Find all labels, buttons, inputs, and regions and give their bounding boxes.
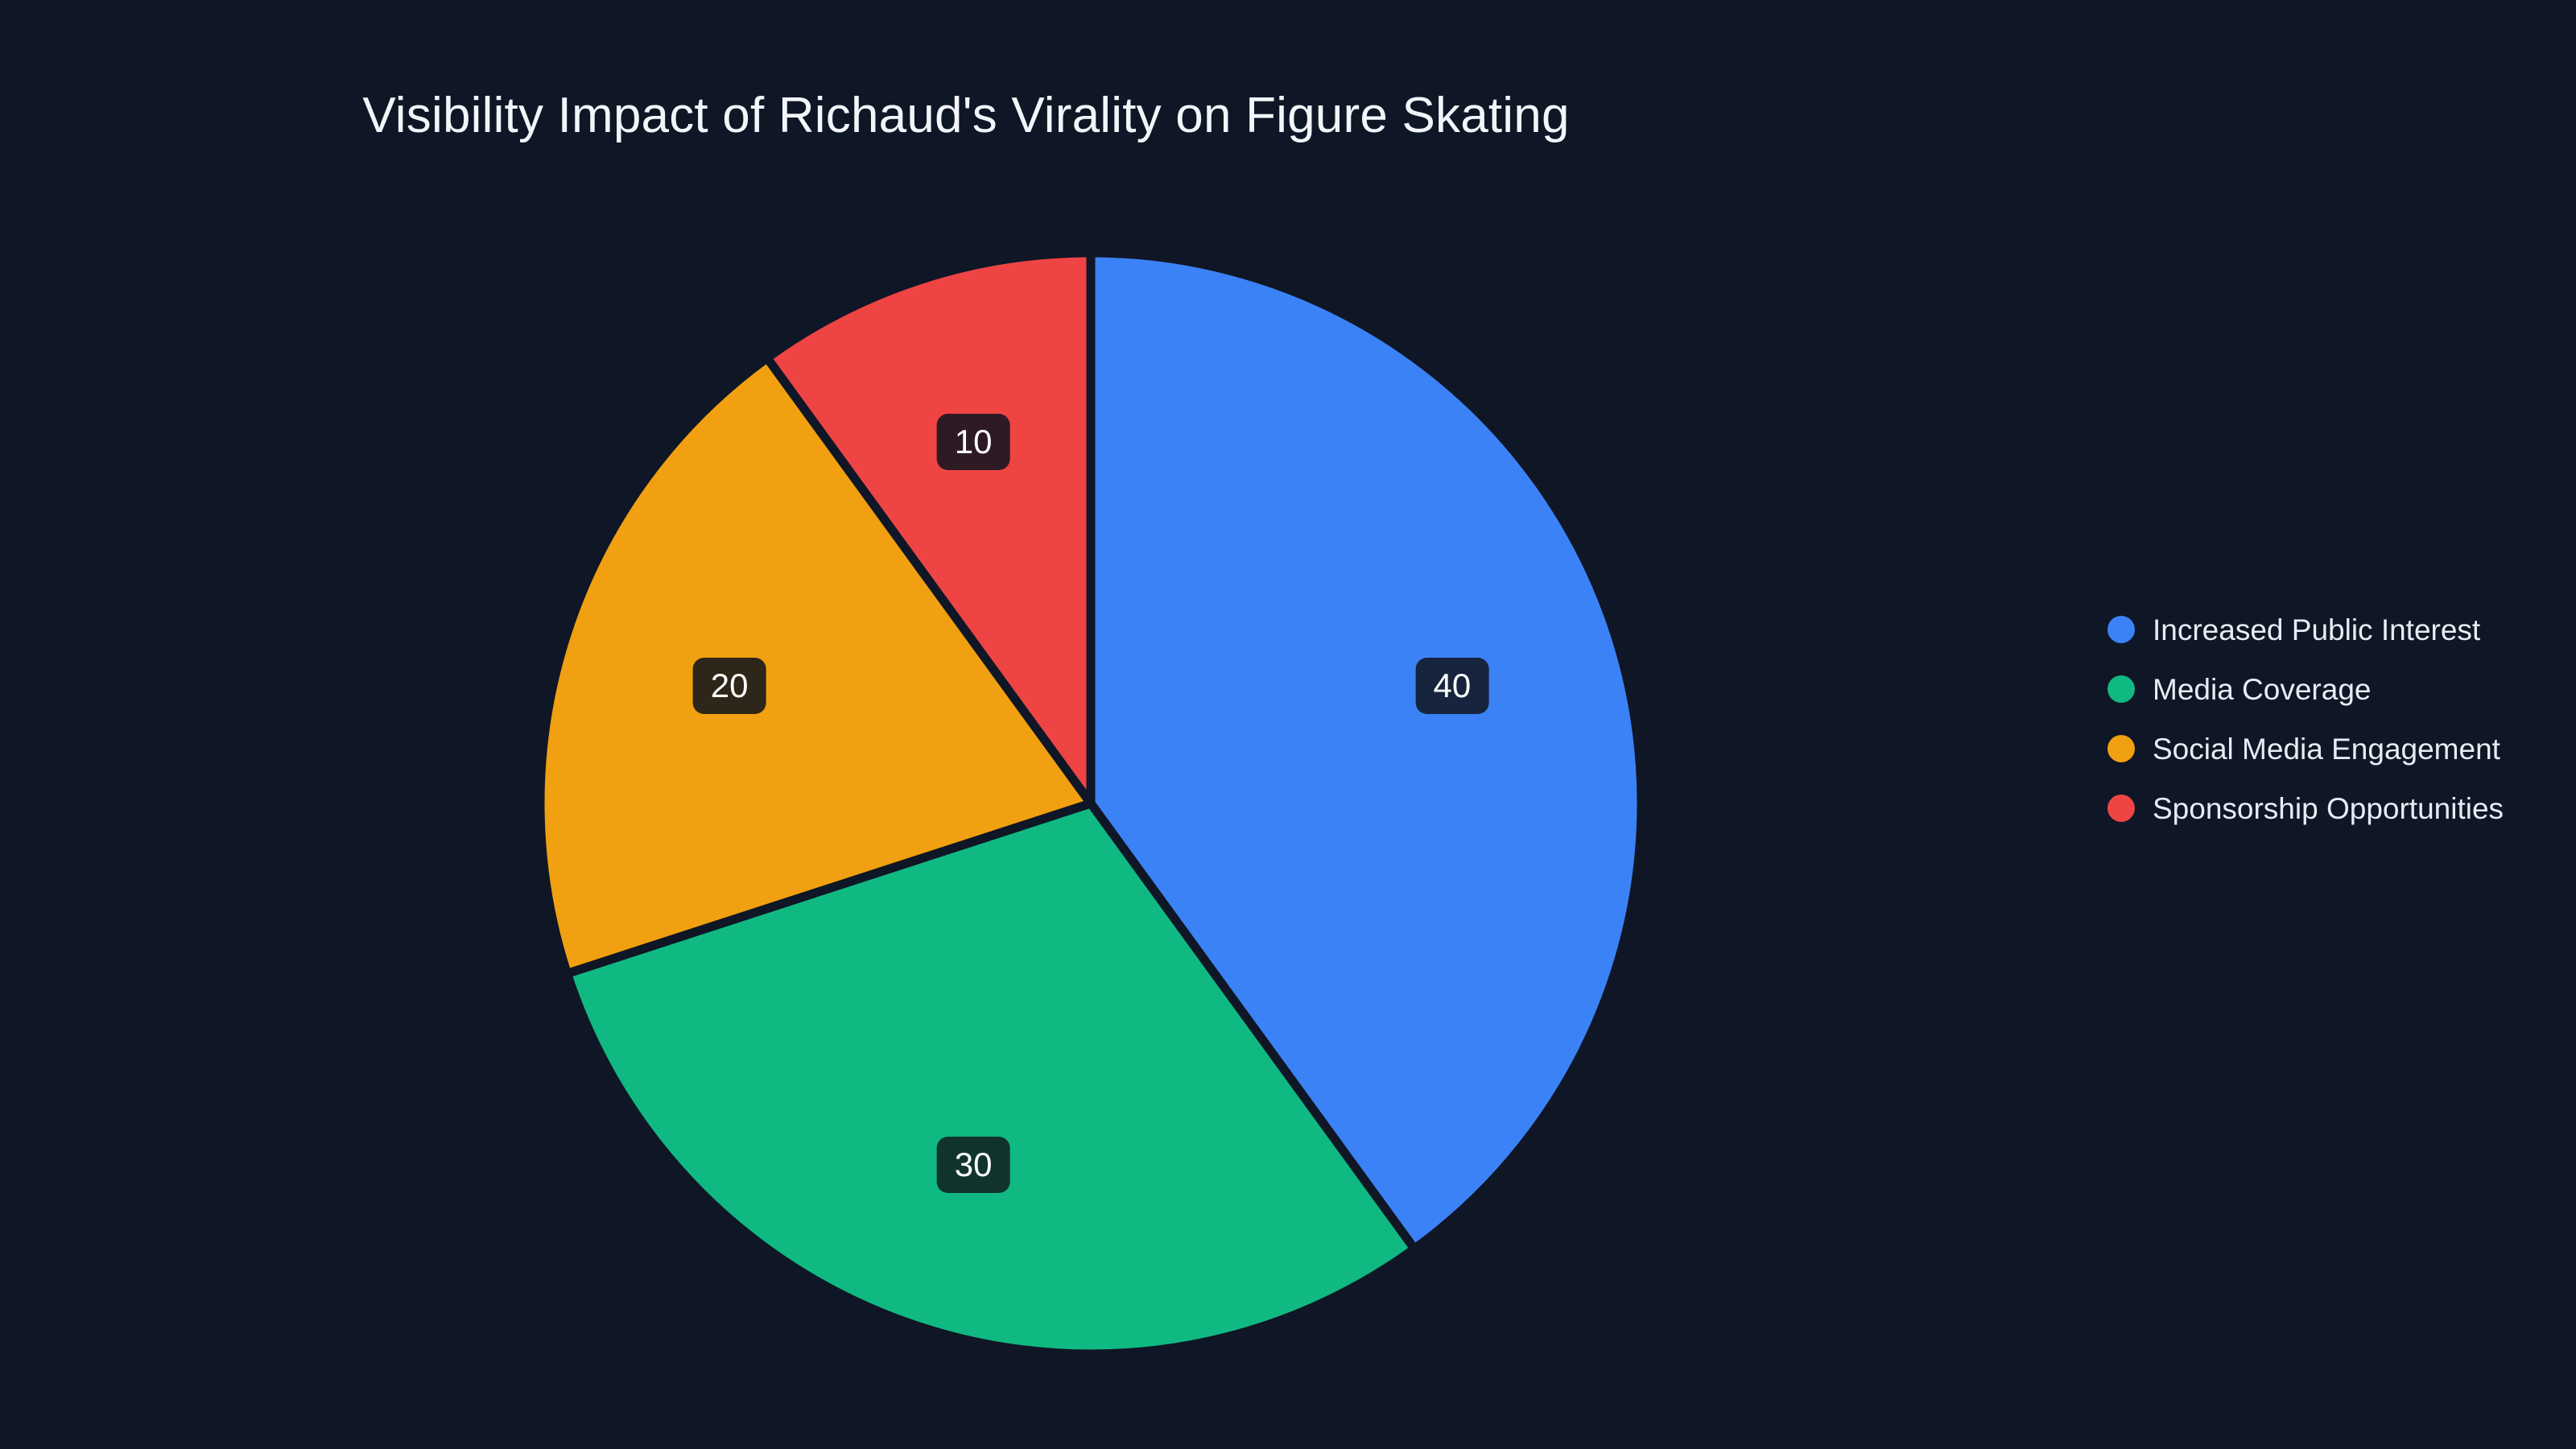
legend-swatch-icon <box>2107 795 2135 822</box>
legend-swatch-icon <box>2107 616 2135 643</box>
legend-item-label: Media Coverage <box>2153 675 2371 704</box>
slice-value-label: 10 <box>937 414 1010 470</box>
legend-item-label: Sponsorship Opportunities <box>2153 794 2504 824</box>
legend-item-label: Social Media Engagement <box>2153 734 2500 764</box>
chart-legend: Increased Public InterestMedia CoverageS… <box>2107 612 2504 826</box>
slice-value-label: 30 <box>937 1137 1010 1193</box>
pie-slice-group <box>540 253 1641 1354</box>
chart-canvas: Visibility Impact of Richaud's Virality … <box>0 0 2576 1449</box>
legend-swatch-icon <box>2107 735 2135 762</box>
slice-value-label: 40 <box>1416 658 1489 714</box>
legend-item[interactable]: Media Coverage <box>2107 671 2504 707</box>
legend-item[interactable]: Increased Public Interest <box>2107 612 2504 647</box>
legend-swatch-icon <box>2107 675 2135 703</box>
legend-item[interactable]: Social Media Engagement <box>2107 731 2504 766</box>
legend-item-label: Increased Public Interest <box>2153 615 2480 645</box>
slice-value-label: 20 <box>693 658 766 714</box>
legend-item[interactable]: Sponsorship Opportunities <box>2107 791 2504 826</box>
